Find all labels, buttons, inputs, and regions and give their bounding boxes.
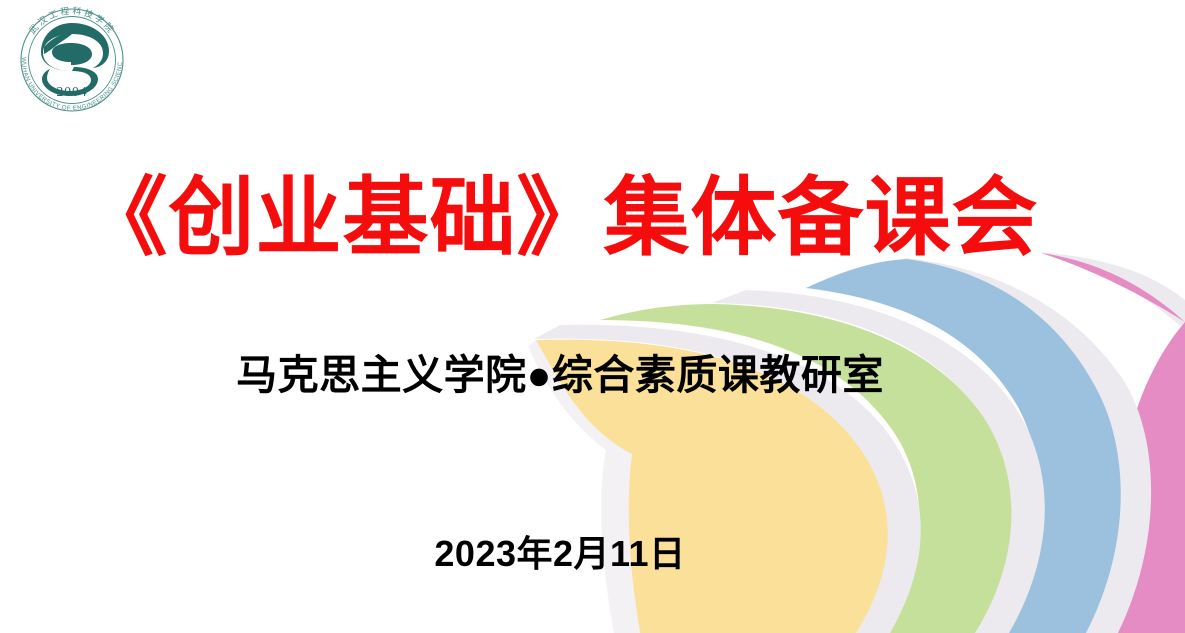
presentation-slide: 2004 WUHAN UNIVERSITY OF ENGINEERING SCI… [0,0,1185,633]
slide-title: 《创业基础》集体备课会 [0,166,1120,270]
slide-subtitle: 马克思主义学院●综合素质课教研室 [0,348,1120,402]
slide-text-layer: 《创业基础》集体备课会 马克思主义学院●综合素质课教研室 2023年2月11日 [0,0,1185,633]
slide-date: 2023年2月11日 [0,530,1120,578]
